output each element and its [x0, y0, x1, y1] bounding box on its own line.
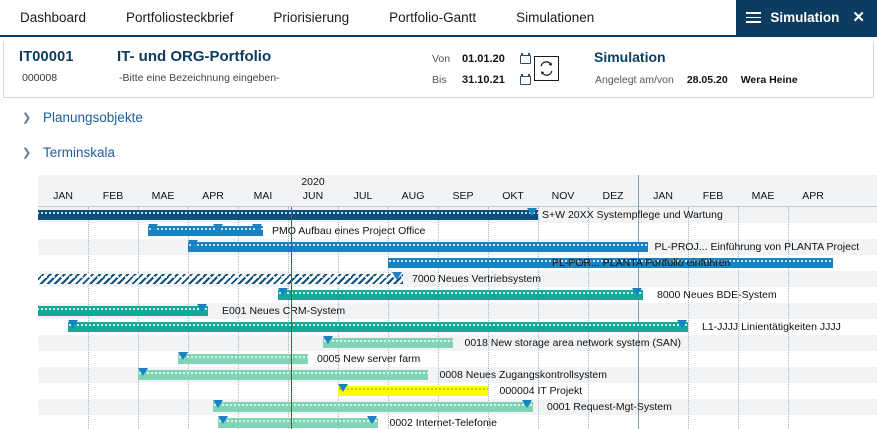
gantt-milestone-marker: [188, 240, 198, 248]
gantt-task-label: PMO Aufbau eines Project Office: [272, 224, 425, 238]
gantt-bar-fill: [138, 370, 428, 380]
tab-bar-spacer: [614, 0, 736, 35]
gantt-month-label: NOV: [538, 190, 588, 202]
gantt-task-label: E001 Neues CRM-System: [222, 304, 345, 318]
gantt-month-label: AUG: [388, 190, 438, 202]
gantt-milestone-marker: [677, 320, 687, 328]
gantt-month-label: APR: [188, 190, 238, 202]
portfolio-title: IT- und ORG-Portfolio: [117, 48, 271, 65]
gantt-milestone-marker: [323, 336, 333, 344]
gantt-milestone-marker: [367, 416, 377, 424]
gantt-task-bar[interactable]: [213, 399, 533, 415]
gantt-milestone-marker: [522, 400, 532, 408]
gantt-row[interactable]: [38, 351, 877, 367]
gantt-bar-progress-dots: [138, 370, 428, 374]
tab-simulation-label: Simulation: [770, 10, 839, 25]
gantt-month-label: SEP: [438, 190, 488, 202]
portfolio-sub-id: 000008: [22, 72, 57, 84]
gantt-task-bar[interactable]: [188, 239, 648, 255]
gantt-month-label: OKT: [488, 190, 538, 202]
created-by: Wera Heine: [741, 74, 798, 86]
main-tab-bar: Dashboard Portfoliosteckbrief Priorisier…: [0, 0, 877, 37]
gantt-bar-fill: [38, 306, 208, 316]
gantt-task-bar[interactable]: «: [38, 271, 403, 287]
gantt-milestone-marker: [68, 320, 78, 328]
gantt-bar-progress-dots: [218, 418, 378, 422]
tab-portfolio-gantt[interactable]: Portfolio-Gantt: [369, 0, 496, 35]
tab-dashboard[interactable]: Dashboard: [0, 0, 106, 35]
date-to-value[interactable]: 31.10.21: [462, 74, 514, 86]
portfolio-id: IT00001: [19, 49, 74, 65]
gantt-milestone-marker: [527, 208, 537, 216]
date-to-label: Bis: [432, 74, 456, 86]
gantt-month-label: JAN: [38, 190, 88, 202]
gantt-bar-fill: [148, 226, 263, 236]
gantt-milestone-marker: [178, 352, 188, 360]
gantt-task-label: PL-POR... PLANTA Portfolio einführen: [552, 256, 730, 270]
gantt-bar-fill: [188, 242, 648, 252]
gantt-bar-fill: [213, 402, 533, 412]
gantt-bar-fill: [68, 322, 688, 332]
gantt-task-bar[interactable]: [338, 383, 488, 399]
gantt-task-label: 0005 New server farm: [317, 352, 420, 366]
section-planungsobjekte[interactable]: ❯ Planungsobjekte: [22, 110, 143, 125]
gantt-bar-progress-dots: [278, 290, 643, 294]
gantt-task-bar[interactable]: [278, 287, 643, 303]
gantt-month-label: DEZ: [588, 190, 638, 202]
chevron-right-icon: ❯: [22, 111, 31, 124]
gantt-today-marker: [291, 207, 292, 429]
date-from-value[interactable]: 01.01.20: [462, 53, 514, 65]
gantt-bar-progress-dots: [213, 402, 533, 406]
gantt-month-label: MAE: [738, 190, 788, 202]
gantt-bar-fill: [338, 386, 488, 396]
gantt-task-bar[interactable]: [68, 319, 688, 335]
gantt-bar-progress-dots: [178, 354, 308, 358]
gantt-task-bar[interactable]: [138, 367, 428, 383]
gantt-month-label: JUL: [338, 190, 388, 202]
gantt-milestone-marker: [197, 304, 207, 312]
simulation-meta: Angelegt am/von 28.05.20 Wera Heine: [595, 74, 798, 86]
gantt-month-label: JAN: [638, 190, 688, 202]
simulation-title: Simulation: [594, 49, 666, 65]
tab-simulation-active[interactable]: Simulation ✕: [736, 0, 877, 35]
tab-priorisierung[interactable]: Priorisierung: [253, 0, 369, 35]
gantt-bar-fill: [323, 338, 453, 348]
gantt-bar-fill: [278, 290, 643, 300]
gantt-task-label: 0002 Internet-Telefonie: [390, 416, 497, 429]
gantt-month-label: APR: [788, 190, 838, 202]
gantt-bar-progress-dots: [338, 386, 488, 390]
gantt-month-label: FEB: [88, 190, 138, 202]
section-terminskala[interactable]: ❯ Terminskala: [22, 145, 115, 160]
gantt-task-label: PL-PROJ... Einführung von PLANTA Project: [655, 240, 860, 254]
gantt-task-label: 0018 New storage area network system (SA…: [465, 336, 682, 350]
calendar-icon[interactable]: [520, 74, 531, 85]
created-date: 28.05.20: [687, 74, 728, 86]
gantt-task-bar[interactable]: [178, 351, 308, 367]
gantt-milestone-marker: [213, 224, 223, 232]
date-from-row: Von 01.01.20: [432, 48, 531, 69]
gantt-bar-progress-dots: [38, 210, 538, 214]
refresh-icon: [538, 60, 555, 77]
gantt-bar-progress-dots: [323, 338, 453, 342]
refresh-button[interactable]: [534, 56, 559, 81]
gantt-chart[interactable]: «S+W 20XX Systempflege und WartungPMO Au…: [38, 175, 877, 429]
gantt-milestone-marker: [632, 288, 642, 296]
gantt-milestone-marker: [138, 368, 148, 376]
portfolio-header-card: IT00001 000008 IT- und ORG-Portfolio -Bi…: [3, 41, 874, 98]
gantt-bar-fill: [218, 418, 378, 428]
date-from-label: Von: [432, 53, 456, 65]
gantt-bar-progress-dots: [68, 322, 688, 326]
gantt-milestone-marker: [278, 288, 288, 296]
close-icon[interactable]: ✕: [852, 10, 865, 25]
gantt-milestone-marker: [338, 384, 348, 392]
gantt-task-label: 8000 Neues BDE-System: [657, 288, 777, 302]
gantt-task-bar[interactable]: [218, 415, 378, 429]
created-label: Angelegt am/von: [595, 74, 674, 86]
gantt-bar-fill: [38, 274, 403, 284]
section-terminskala-label: Terminskala: [43, 145, 115, 160]
gantt-milestone-marker: [148, 224, 158, 232]
gantt-task-bar[interactable]: «: [38, 207, 538, 223]
portfolio-subtitle[interactable]: -Bitte eine Bezeichnung eingeben-: [119, 72, 280, 84]
gantt-bar-progress-dots: [38, 306, 208, 310]
gantt-milestone-marker: [252, 224, 262, 232]
gantt-bar-fill: [178, 354, 308, 364]
gantt-year-label: 2020: [301, 176, 324, 188]
gantt-task-label: 0008 Neues Zugangskontrollsystem: [440, 368, 608, 382]
hamburger-icon[interactable]: [746, 12, 761, 23]
gantt-task-bar[interactable]: [148, 223, 263, 239]
gantt-row[interactable]: [38, 335, 877, 351]
chevron-down-icon: ❯: [22, 146, 31, 159]
gantt-milestone-marker: [392, 272, 402, 280]
gantt-task-label: 000004 IT Projekt: [500, 384, 583, 398]
gantt-month-label: JUN: [288, 190, 338, 202]
tab-simulationen[interactable]: Simulationen: [496, 0, 614, 35]
gantt-task-label: S+W 20XX Systempflege und Wartung: [542, 208, 723, 222]
gantt-bar-fill: [38, 210, 538, 220]
gantt-bar-progress-dots: [148, 226, 263, 230]
gantt-task-bar[interactable]: «: [38, 303, 208, 319]
date-range-group: Von 01.01.20 Bis 31.10.21: [432, 48, 531, 90]
gantt-task-label: L1-JJJJ Linientätigkeiten JJJJ: [702, 320, 841, 334]
tab-portfoliosteckbrief[interactable]: Portfoliosteckbrief: [106, 0, 253, 35]
gantt-bar-progress-dots: [38, 274, 403, 278]
gantt-milestone-marker: [213, 400, 223, 408]
gantt-task-bar[interactable]: [323, 335, 453, 351]
gantt-bar-progress-dots: [188, 242, 648, 246]
gantt-milestone-marker: [218, 416, 228, 424]
gantt-month-label: MAE: [138, 190, 188, 202]
date-to-row: Bis 31.10.21: [432, 69, 531, 90]
gantt-month-label: MAI: [238, 190, 288, 202]
gantt-task-label: 7000 Neues Vertriebsystem: [412, 272, 541, 286]
gantt-task-label: 0001 Request-Mgt-System: [547, 400, 672, 414]
section-planungsobjekte-label: Planungsobjekte: [43, 110, 143, 125]
calendar-icon[interactable]: [520, 53, 531, 64]
gantt-month-label: FEB: [688, 190, 738, 202]
